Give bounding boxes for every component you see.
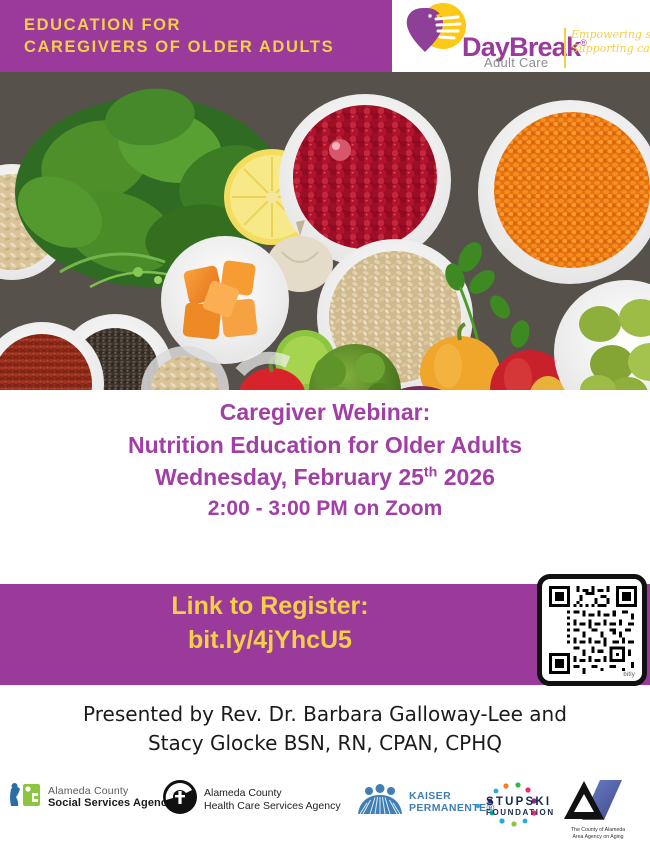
- kaiser-permanente-icon: [357, 784, 403, 821]
- sponsor-4-line-1: The County of Alameda: [562, 827, 634, 834]
- stupski-dots-icon: STUPSKI FOUNDATION: [470, 782, 556, 828]
- webinar-time: 2:00 - 3:00 PM on Zoom: [0, 494, 650, 524]
- qr-code-matrix: [549, 586, 637, 674]
- sponsor-logos: Alameda County Social Services Agency A: [0, 772, 650, 841]
- sponsor-1-line-1: Alameda County: [204, 787, 341, 800]
- presenters-line-2: Stacy Glocke BSN, RN, CPAN, CPHQ: [0, 729, 650, 758]
- area-agency-triangle-icon: [562, 778, 634, 827]
- sponsor-0-line-2: Social Services Agency: [48, 797, 173, 810]
- sponsor-area-agency-on-aging: The County of Alameda Area Agency on Agi…: [562, 778, 634, 841]
- presenters-line-1: Presented by Rev. Dr. Barbara Galloway-L…: [0, 700, 650, 729]
- alameda-health-seal-icon: [163, 780, 197, 819]
- tagline-line-1: Empowering seniors: [571, 28, 650, 42]
- daybreak-subtitle: Adult Care: [484, 55, 548, 70]
- sponsor-stupski-foundation: STUPSKI FOUNDATION: [470, 782, 556, 828]
- header: EDUCATION FOR CAREGIVERS OF OLDER ADULTS: [0, 0, 650, 72]
- sponsor-alameda-social-services: Alameda County Social Services Agency: [8, 782, 173, 813]
- webinar-date-text: Wednesday, February 25: [155, 464, 424, 490]
- sponsor-0-line-1: Alameda County: [48, 785, 173, 797]
- webinar-topic-line: Nutrition Education for Older Adults: [0, 429, 650, 462]
- header-line-2: CAREGIVERS OF OLDER ADULTS: [24, 36, 384, 58]
- qr-brand-label: bitly: [623, 672, 635, 678]
- sponsor-3-line-2: FOUNDATION: [486, 809, 546, 818]
- webinar-details: Caregiver Webinar: Nutrition Education f…: [0, 396, 650, 524]
- sponsor-3-line-1: STUPSKI: [486, 796, 546, 809]
- register-heading: Link to Register:: [0, 590, 540, 624]
- register-link[interactable]: bit.ly/4jYhcU5: [0, 624, 540, 658]
- sponsor-4-line-2: Area Agency on Aging: [562, 834, 634, 841]
- webinar-date-year: 2026: [437, 464, 495, 490]
- logo-divider: [564, 28, 566, 68]
- alameda-social-services-icon: [8, 782, 42, 813]
- sponsor-alameda-health-care-services: Alameda County Health Care Services Agen…: [163, 780, 341, 819]
- register-text: Link to Register: bit.ly/4jYhcU5: [0, 590, 540, 658]
- page-title: EDUCATION FOR CAREGIVERS OF OLDER ADULTS: [24, 14, 384, 58]
- daybreak-logo: DayBreak® Adult Care Empowering seniors …: [396, 0, 650, 72]
- webinar-title-line: Caregiver Webinar:: [0, 396, 650, 429]
- daybreak-tagline: Empowering seniors Supporting caregivers: [571, 28, 650, 56]
- sponsor-1-line-2: Health Care Services Agency: [204, 800, 341, 813]
- qr-code[interactable]: bitly: [537, 574, 647, 686]
- tagline-line-2: Supporting caregivers: [571, 42, 650, 56]
- webinar-date-ordinal: th: [424, 465, 437, 481]
- area-agency-caption: The County of Alameda Area Agency on Agi…: [562, 827, 634, 841]
- hero-food-photo: [0, 72, 650, 390]
- presenters: Presented by Rev. Dr. Barbara Galloway-L…: [0, 700, 650, 758]
- header-line-1: EDUCATION FOR: [24, 16, 181, 34]
- webinar-date: Wednesday, February 25th 2026: [0, 461, 650, 494]
- flyer-page: EDUCATION FOR CAREGIVERS OF OLDER ADULTS: [0, 0, 650, 841]
